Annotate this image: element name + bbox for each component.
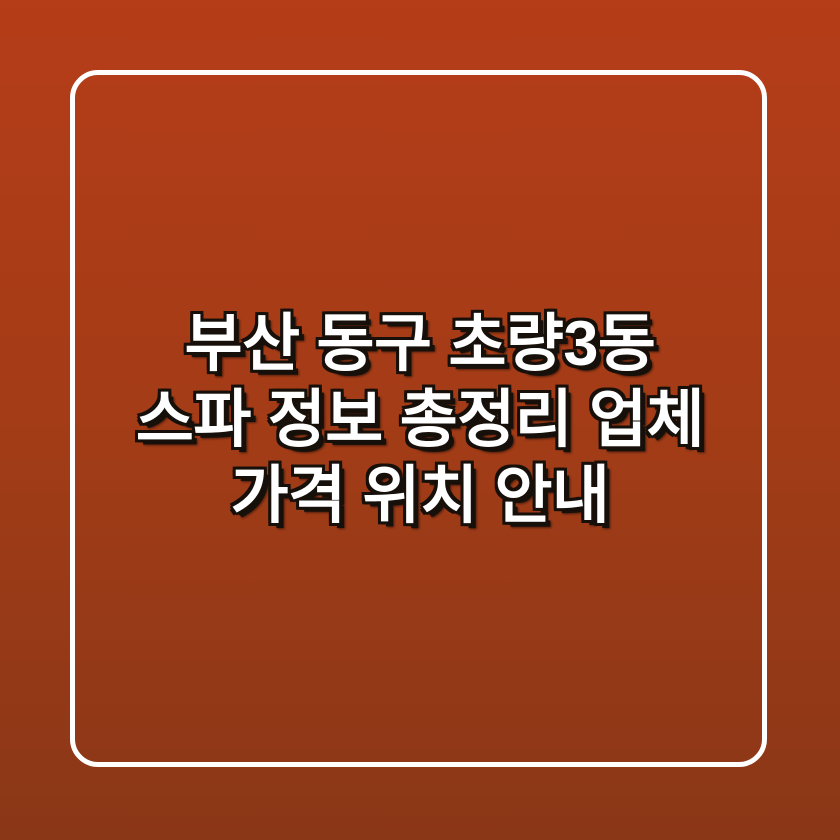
poster-canvas: 부산 동구 초량3동 스파 정보 총정리 업체 가격 위치 안내 (0, 0, 840, 840)
headline-line-2: 스파 정보 총정리 업체 (86, 382, 754, 458)
headline-line-3: 가격 위치 안내 (86, 458, 754, 534)
headline-block: 부산 동구 초량3동 스파 정보 총정리 업체 가격 위치 안내 (0, 0, 840, 840)
headline-line-1: 부산 동구 초량3동 (86, 306, 754, 382)
